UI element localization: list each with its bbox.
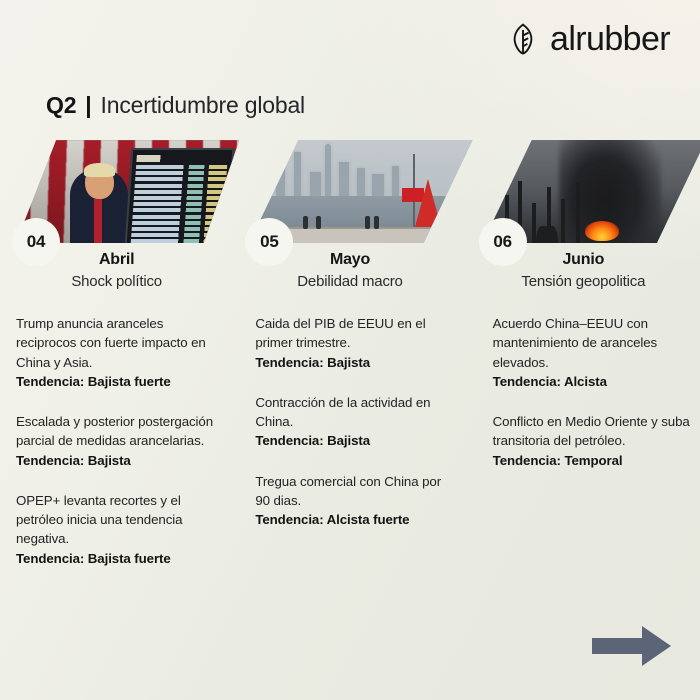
month-subtitle-april: Shock político [14,273,219,290]
pedestrian [316,216,321,229]
entry-item: Contracción de la actividad en China. Te… [255,393,456,451]
entry-text: Contracción de la actividad en China. [255,393,456,432]
leaf-icon [506,22,540,56]
entry-text: Conflicto en Medio Oriente y suba transi… [493,412,690,451]
speaker-tie [94,199,102,243]
timeline-column-june: 06 Junio Tensión geopolitica Acuerdo Chi… [467,140,700,589]
entry-trend: Tendencia: Temporal [493,451,690,470]
pedestrian [365,216,370,229]
entry-trend: Tendencia: Bajista [255,353,456,372]
fire-flame [585,221,619,241]
arrow-right-icon[interactable] [592,624,672,668]
skyline-building [392,166,399,196]
entry-trend: Tendencia: Bajista [255,431,456,450]
entry-item: Escalada y posterior postergación parcia… [16,412,223,470]
page-title: Q2 | Incertidumbre global [46,92,305,119]
speaker-hair [84,163,115,177]
tariff-board [124,148,233,243]
entry-trend: Tendencia: Bajista fuerte [16,549,223,568]
entry-trend: Tendencia: Bajista [16,451,223,470]
timeline-columns: 04 Abril Shock político Trump anuncia ar… [0,140,700,589]
month-number-badge-04: 04 [12,218,60,266]
entry-item: Caida del PIB de EEUU en el primer trime… [255,314,456,372]
brand-logo: alrubber [506,22,670,56]
entry-text: Caida del PIB de EEUU en el primer trime… [255,314,456,353]
skyline-building [339,162,349,196]
month-subtitle-june: Tensión geopolitica [481,273,686,290]
entry-item: Conflicto en Medio Oriente y suba transi… [493,412,690,470]
month-number-badge-05: 05 [245,218,293,266]
entry-text: Acuerdo China–EEUU con mantenimiento de … [493,314,690,372]
entry-text: OPEP+ levanta recortes y el petróleo ini… [16,491,223,549]
entry-item: Tregua comercial con China por 90 dias. … [255,472,456,530]
pedestrian [374,216,379,229]
entry-item: Acuerdo China–EEUU con mantenimiento de … [493,314,690,391]
entry-list-june: Acuerdo China–EEUU con mantenimiento de … [467,314,700,470]
quarter-label: Q2 [46,92,76,119]
skyline-building [372,174,384,196]
brand-name: alrubber [550,22,670,56]
title-text: Incertidumbre global [101,92,305,119]
skyline-building [310,172,321,196]
timeline-column-april: 04 Abril Shock político Trump anuncia ar… [0,140,233,589]
entry-trend: Tendencia: Bajista fuerte [16,372,223,391]
skyline-building [357,168,365,196]
skyline-tower [325,144,331,196]
entry-item: Trump anuncia aranceles reciprocos con f… [16,314,223,391]
skyline-building [294,152,301,196]
month-number-badge-06: 06 [479,218,527,266]
entry-list-april: Trump anuncia aranceles reciprocos con f… [0,314,233,568]
pedestrian [303,216,308,229]
refinery-stack [561,199,565,243]
entry-trend: Tendencia: Alcista [493,372,690,391]
refinery-stack [532,203,536,243]
entry-text: Trump anuncia aranceles reciprocos con f… [16,314,223,372]
timeline-column-may: 05 Mayo Debilidad macro Caida del PIB de… [233,140,466,589]
skyline-building [276,166,285,196]
storage-tank [536,226,558,243]
entry-text: Escalada y posterior postergación parcia… [16,412,223,451]
entry-item: OPEP+ levanta recortes y el petróleo ini… [16,491,223,568]
entry-list-may: Caida del PIB de EEUU en el primer trime… [233,314,466,529]
month-subtitle-may: Debilidad macro [247,273,452,290]
refinery-stack [576,183,580,243]
entry-text: Tregua comercial con China por 90 dias. [255,472,456,511]
entry-trend: Tendencia: Alcista fuerte [255,510,456,529]
red-sail [415,179,441,227]
title-separator: | [85,92,91,119]
